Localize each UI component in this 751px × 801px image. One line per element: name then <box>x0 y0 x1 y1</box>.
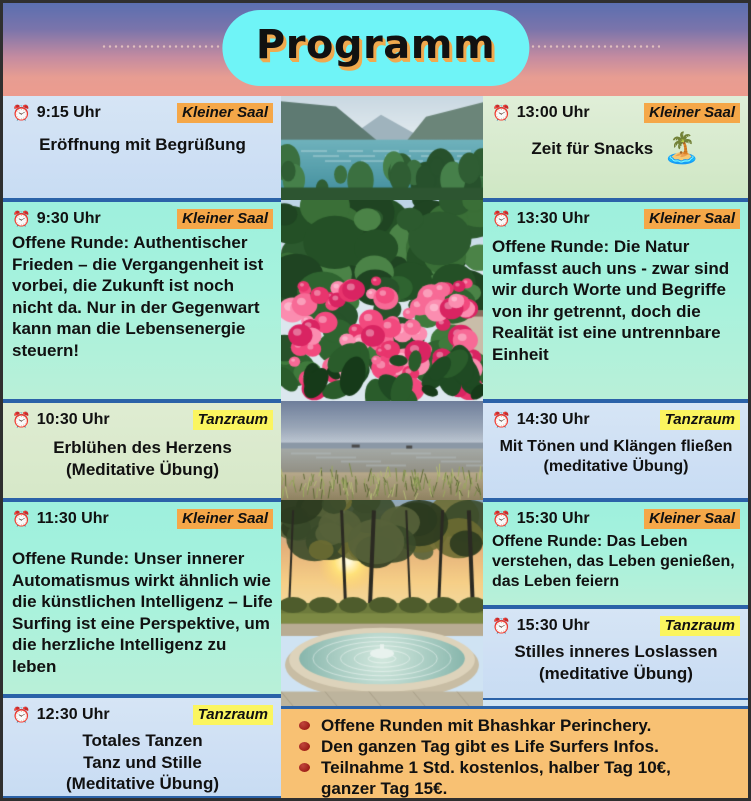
entry-time-label: 14:30 Uhr <box>517 411 590 429</box>
program-poster: Programm ⏰ 9:15 Uhr Kleiner Saal Eröffnu… <box>0 0 751 801</box>
alarm-clock-icon: ⏰ <box>12 106 31 121</box>
entry-time-label: 9:30 Uhr <box>37 210 101 228</box>
entry-description-wrap: Zeit für Snacks 🏝️ <box>492 126 740 164</box>
entry-description: Zeit für Snacks <box>531 138 653 160</box>
entry-header: ⏰ 15:30 Uhr Kleiner Saal <box>492 508 740 530</box>
entry-time-label: 15:30 Uhr <box>517 510 590 528</box>
entry-time-label: 12:30 Uhr <box>37 706 110 724</box>
schedule-entry[interactable]: ⏰ 9:30 Uhr Kleiner Saal Offene Runde: Au… <box>3 200 281 401</box>
entry-description: Offene Runde: Authentischer Frieden – di… <box>12 232 273 361</box>
schedule-entry[interactable]: ⏰ 11:30 Uhr Kleiner Saal Offene Runde: U… <box>3 500 281 696</box>
info-list: Offene Runden mit Bhashkar Perinchery. D… <box>291 715 740 799</box>
entry-description: Offene Runde: Die Natur umfasst auch uns… <box>492 232 740 365</box>
beach-mudflat-photo <box>281 401 483 500</box>
title-pill: Programm <box>222 10 529 86</box>
entry-time: ⏰ 15:30 Uhr <box>492 510 590 528</box>
alarm-clock-icon: ⏰ <box>492 413 511 428</box>
entry-header: ⏰ 12:30 Uhr Tanzraum <box>12 704 273 726</box>
schedule-entry[interactable]: ⏰ 10:30 Uhr Tanzraum Erblühen des Herzen… <box>3 401 281 500</box>
schedule-entry[interactable]: ⏰ 13:00 Uhr Kleiner Saal Zeit für Snacks… <box>483 96 748 200</box>
alarm-clock-icon: ⏰ <box>492 619 511 634</box>
entry-description: Offene Runde: Das Leben verstehen, das L… <box>492 532 740 592</box>
entry-description: Mit Tönen und Klängen fließen (meditativ… <box>492 433 740 477</box>
schedule-entry[interactable]: ⏰ 13:30 Uhr Kleiner Saal Offene Runde: D… <box>483 200 748 401</box>
schedule-grid: ⏰ 9:15 Uhr Kleiner Saal Eröffnung mit Be… <box>3 96 748 798</box>
info-list-item: Teilnahme 1 Std. kostenlos, halber Tag 1… <box>291 757 740 778</box>
fountain-sunset-photo <box>281 500 483 706</box>
alarm-clock-icon: ⏰ <box>12 708 31 723</box>
entry-description: Erblühen des Herzens (Meditative Übung) <box>12 433 273 480</box>
entry-header: ⏰ 9:15 Uhr Kleiner Saal <box>12 102 273 124</box>
info-text: Teilnahme 1 Std. kostenlos, halber Tag 1… <box>321 758 671 777</box>
entry-header: ⏰ 15:30 Uhr Tanzraum <box>492 615 740 637</box>
desert-island-icon: 🏝️ <box>663 134 700 164</box>
info-text: Den ganzen Tag gibt es Life Surfers Info… <box>321 737 659 756</box>
entry-time: ⏰ 11:30 Uhr <box>12 510 109 528</box>
entry-header: ⏰ 9:30 Uhr Kleiner Saal <box>12 208 273 230</box>
entry-description: Stilles inneres Loslassen (meditative Üb… <box>492 639 740 684</box>
red-bullet-icon <box>299 742 310 751</box>
entry-time-label: 15:30 Uhr <box>517 617 590 635</box>
poster-header: Programm <box>3 3 748 96</box>
right-schedule-column: ⏰ 13:00 Uhr Kleiner Saal Zeit für Snacks… <box>483 96 748 798</box>
entry-time: ⏰ 13:30 Uhr <box>492 210 590 228</box>
alarm-clock-icon: ⏰ <box>492 106 511 121</box>
entry-description: Eröffnung mit Begrüßung <box>12 126 273 156</box>
alarm-clock-icon: ⏰ <box>12 512 31 527</box>
entry-time-label: 13:30 Uhr <box>517 210 590 228</box>
alarm-clock-icon: ⏰ <box>492 512 511 527</box>
entry-description: Totales Tanzen Tanz und Stille (Meditati… <box>12 728 273 795</box>
entry-header: ⏰ 13:00 Uhr Kleiner Saal <box>492 102 740 124</box>
entry-time: ⏰ 15:30 Uhr <box>492 617 590 635</box>
entry-time-label: 13:00 Uhr <box>517 104 590 122</box>
room-badge: Kleiner Saal <box>644 509 740 529</box>
info-list-item-continuation: ganzer Tag 15€. <box>291 778 740 799</box>
schedule-entry[interactable]: ⏰ 12:30 Uhr Tanzraum Totales Tanzen Tanz… <box>3 696 281 798</box>
info-text: Offene Runden mit Bhashkar Perinchery. <box>321 716 651 735</box>
entry-time: ⏰ 12:30 Uhr <box>12 706 110 724</box>
info-list-item: Offene Runden mit Bhashkar Perinchery. <box>291 715 740 736</box>
info-box: Offene Runden mit Bhashkar Perinchery. D… <box>281 706 748 798</box>
left-schedule-column: ⏰ 9:15 Uhr Kleiner Saal Eröffnung mit Be… <box>3 96 281 798</box>
schedule-entry[interactable]: ⏰ 14:30 Uhr Tanzraum Mit Tönen und Kläng… <box>483 401 748 500</box>
entry-time: ⏰ 9:30 Uhr <box>12 210 101 228</box>
schedule-entry[interactable]: ⏰ 15:30 Uhr Tanzraum Stilles inneres Los… <box>483 607 748 700</box>
entry-header: ⏰ 13:30 Uhr Kleiner Saal <box>492 208 740 230</box>
info-text: ganzer Tag 15€. <box>321 779 447 798</box>
room-badge: Kleiner Saal <box>644 103 740 123</box>
red-bullet-icon <box>299 763 310 772</box>
pink-roses-photo <box>281 200 483 401</box>
room-badge: Tanzraum <box>660 616 740 636</box>
entry-time: ⏰ 13:00 Uhr <box>492 104 590 122</box>
entry-header: ⏰ 11:30 Uhr Kleiner Saal <box>12 508 273 530</box>
room-badge: Tanzraum <box>660 410 740 430</box>
photo-column <box>281 96 483 798</box>
info-list-item: Den ganzen Tag gibt es Life Surfers Info… <box>291 736 740 757</box>
alarm-clock-icon: ⏰ <box>492 212 511 227</box>
room-badge: Kleiner Saal <box>177 103 273 123</box>
alarm-clock-icon: ⏰ <box>12 413 31 428</box>
alarm-clock-icon: ⏰ <box>12 212 31 227</box>
entry-time-label: 10:30 Uhr <box>37 411 110 429</box>
room-badge: Kleiner Saal <box>644 209 740 229</box>
entry-time-label: 11:30 Uhr <box>37 510 109 528</box>
lake-mountains-photo <box>281 96 483 200</box>
entry-description: Offene Runde: Unser innerer Automatismus… <box>12 532 273 677</box>
schedule-entry[interactable]: ⏰ 9:15 Uhr Kleiner Saal Eröffnung mit Be… <box>3 96 281 200</box>
entry-time: ⏰ 10:30 Uhr <box>12 411 110 429</box>
entry-header: ⏰ 10:30 Uhr Tanzraum <box>12 409 273 431</box>
entry-header: ⏰ 14:30 Uhr Tanzraum <box>492 409 740 431</box>
page-title: Programm <box>256 14 495 76</box>
red-bullet-icon <box>299 721 310 730</box>
entry-time: ⏰ 14:30 Uhr <box>492 411 590 429</box>
room-badge: Kleiner Saal <box>177 209 273 229</box>
entry-time: ⏰ 9:15 Uhr <box>12 104 101 122</box>
room-badge: Kleiner Saal <box>177 509 273 529</box>
schedule-entry[interactable]: ⏰ 15:30 Uhr Kleiner Saal Offene Runde: D… <box>483 500 748 607</box>
entry-time-label: 9:15 Uhr <box>37 104 101 122</box>
room-badge: Tanzraum <box>193 705 273 725</box>
room-badge: Tanzraum <box>193 410 273 430</box>
